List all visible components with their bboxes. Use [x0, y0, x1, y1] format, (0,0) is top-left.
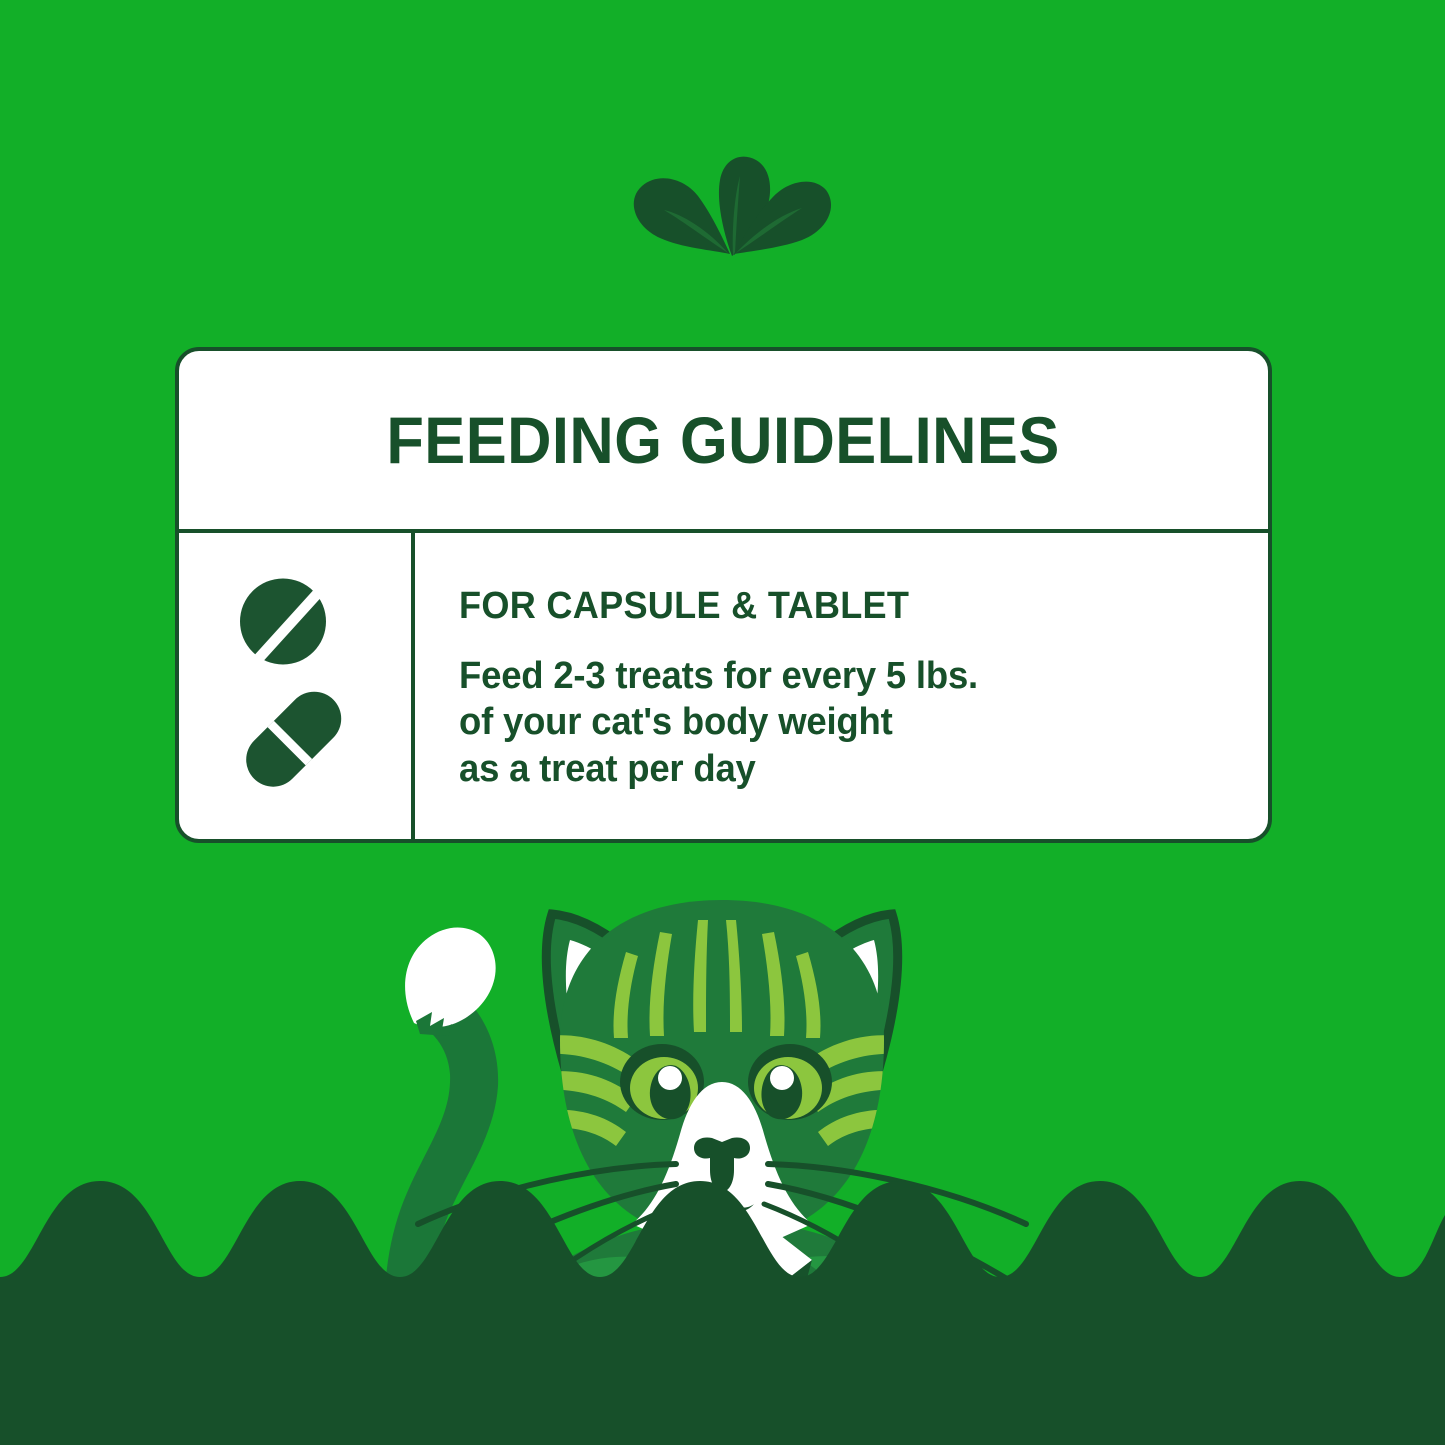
feeding-guidelines-card: FEEDING GUIDELINES FOR — [175, 347, 1272, 843]
icon-cell — [179, 533, 415, 839]
instruction-line-1: Feed 2-3 treats for every 5 lbs. — [459, 653, 1236, 699]
page-title: FEEDING GUIDELINES — [387, 407, 1060, 473]
instruction-line-3: as a treat per day — [459, 746, 1236, 792]
instruction-line-2: of your cat's body weight — [459, 699, 1236, 745]
card-body-row: FOR CAPSULE & TABLET Feed 2-3 treats for… — [179, 533, 1268, 839]
feeding-guidelines-panel: FEEDING GUIDELINES FOR — [0, 0, 1445, 1445]
section-heading: FOR CAPSULE & TABLET — [459, 587, 1228, 625]
card-title-row: FEEDING GUIDELINES — [179, 351, 1268, 533]
cat-eye-right — [748, 1044, 832, 1120]
pill-icons-group — [225, 579, 365, 794]
bottom-wave-band — [0, 1145, 1445, 1445]
round-tablet-icon — [240, 579, 326, 665]
three-leaf-crown-logo — [612, 150, 852, 260]
text-cell: FOR CAPSULE & TABLET Feed 2-3 treats for… — [415, 533, 1268, 839]
capsule-pill-icon — [235, 681, 352, 794]
